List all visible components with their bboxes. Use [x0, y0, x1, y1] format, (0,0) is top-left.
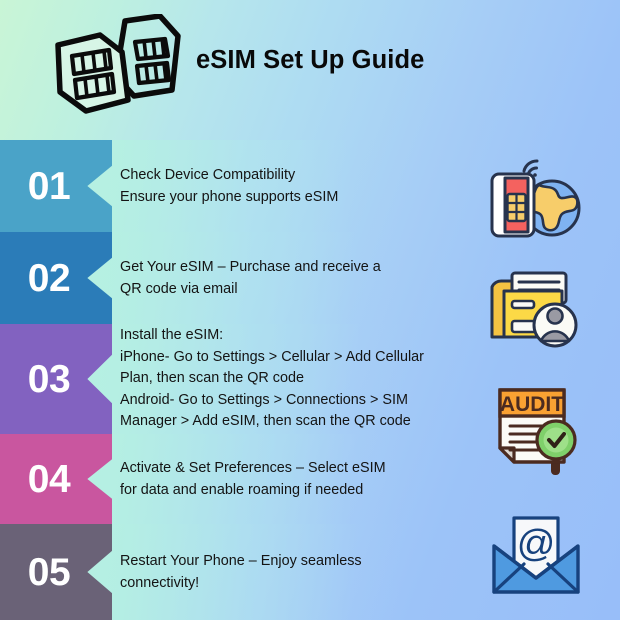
step-line: Manager > Add eSIM, then scan the QR cod… — [120, 411, 424, 433]
step-line: Get Your eSIM – Purchase and receive a — [120, 256, 381, 278]
step-text: Activate & Set Preferences – Select eSIM… — [120, 434, 386, 524]
dual-sim-card-icon — [42, 14, 190, 120]
step-line: iPhone- Go to Settings > Cellular > Add … — [120, 347, 424, 369]
step-number: 05 — [28, 553, 70, 592]
folder-user-icon — [484, 263, 588, 351]
step-line: QR code via email — [120, 278, 381, 300]
header: eSIM Set Up Guide — [0, 0, 620, 132]
step-line: Plan, then scan the QR code — [120, 368, 424, 390]
step-line: connectivity! — [120, 572, 362, 594]
audit-document-icon: AUDIT — [484, 382, 588, 478]
step-line: Check Device Compatibility — [120, 164, 338, 186]
sim-card-globe-icon — [484, 152, 588, 244]
step-text: Restart Your Phone – Enjoy seamless conn… — [120, 524, 362, 620]
audit-heading-text: AUDIT — [500, 393, 564, 416]
email-envelope-icon: @ — [486, 512, 586, 598]
step-text: Get Your eSIM – Purchase and receive a Q… — [120, 232, 381, 324]
step-line: Restart Your Phone – Enjoy seamless — [120, 550, 362, 572]
step-number: 01 — [28, 167, 70, 206]
step-number: 02 — [28, 259, 70, 298]
at-symbol-text: @ — [517, 523, 556, 565]
step-line: Activate & Set Preferences – Select eSIM — [120, 457, 386, 479]
step-line: Ensure your phone supports eSIM — [120, 186, 338, 208]
page-title: eSIM Set Up Guide — [196, 40, 496, 80]
step-line: Install the eSIM: — [120, 325, 424, 347]
step-number: 03 — [28, 360, 70, 399]
step-text: Check Device Compatibility Ensure your p… — [120, 140, 338, 232]
step-number: 04 — [28, 460, 70, 499]
step-line: for data and enable roaming if needed — [120, 479, 386, 501]
step-text: Install the eSIM: iPhone- Go to Settings… — [120, 324, 424, 434]
step-line: Android- Go to Settings > Connections > … — [120, 390, 424, 412]
